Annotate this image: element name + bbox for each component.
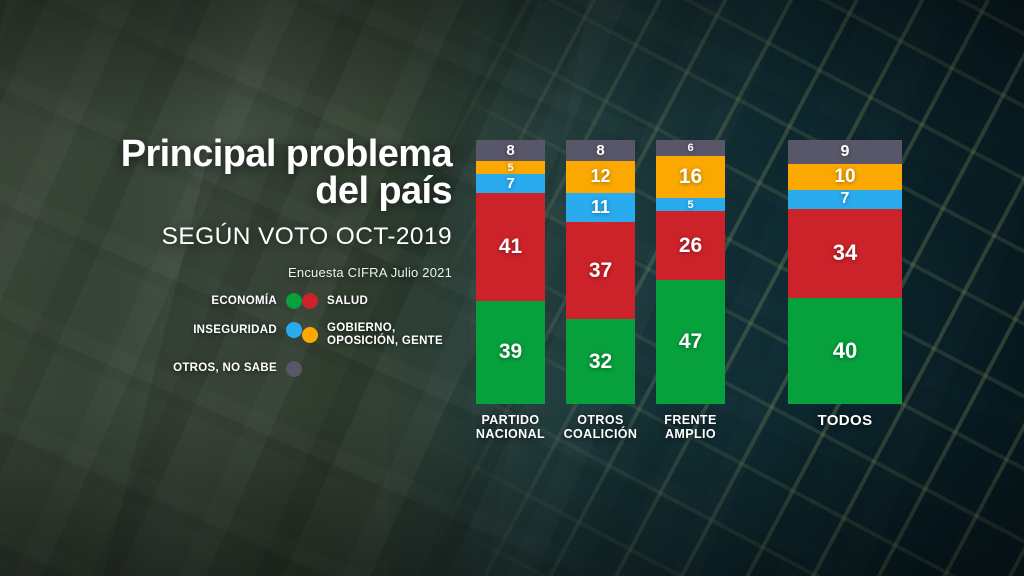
bar-column[interactable]: 91073440TODOS (788, 140, 902, 404)
bar-category-label-line: FRENTE (642, 413, 739, 427)
stacked-bar-chart: 8574139PARTIDONACIONAL812113732OTROSCOAL… (0, 0, 1024, 576)
bar-segment[interactable]: 6 (656, 140, 725, 156)
bar-category-label: TODOS (774, 413, 916, 430)
bar-segment[interactable]: 16 (656, 156, 725, 198)
bar-segment[interactable]: 40 (788, 298, 902, 404)
bar-segment[interactable]: 12 (566, 161, 635, 193)
bar-segment[interactable]: 10 (788, 164, 902, 190)
bar-segment[interactable]: 5 (476, 161, 545, 174)
bar-category-label-line: NACIONAL (462, 427, 559, 441)
bar-segment[interactable]: 39 (476, 301, 545, 404)
bar-segment[interactable]: 32 (566, 319, 635, 403)
bar-segment[interactable]: 8 (566, 140, 635, 161)
bar-segment[interactable]: 5 (656, 198, 725, 211)
bar-category-label-line: TODOS (774, 413, 916, 430)
bar-segment[interactable]: 41 (476, 193, 545, 301)
bar-segment[interactable]: 47 (656, 280, 725, 404)
bar-category-label-line: OTROS (552, 413, 649, 427)
bar-category-label-line: COALICIÓN (552, 427, 649, 441)
bar-segment[interactable]: 34 (788, 209, 902, 299)
bar-segment[interactable]: 7 (788, 190, 902, 208)
bar-segment[interactable]: 37 (566, 222, 635, 320)
bar-segment[interactable]: 7 (476, 174, 545, 192)
bar-segment[interactable]: 9 (788, 140, 902, 164)
bar-segment[interactable]: 11 (566, 193, 635, 222)
bar-column[interactable]: 812113732OTROSCOALICIÓN (566, 140, 635, 404)
stacked-bar: 61652647 (656, 140, 725, 404)
bar-column[interactable]: 61652647FRENTEAMPLIO (656, 140, 725, 404)
stacked-bar: 91073440 (788, 140, 902, 404)
bar-category-label-line: PARTIDO (462, 413, 559, 427)
bar-segment[interactable]: 8 (476, 140, 545, 161)
bar-category-label-line: AMPLIO (642, 427, 739, 441)
stacked-bar: 812113732 (566, 140, 635, 404)
stacked-bar: 8574139 (476, 140, 545, 404)
bar-category-label: FRENTEAMPLIO (642, 413, 739, 441)
bar-segment[interactable]: 26 (656, 211, 725, 280)
bar-column[interactable]: 8574139PARTIDONACIONAL (476, 140, 545, 404)
bar-category-label: OTROSCOALICIÓN (552, 413, 649, 441)
bar-category-label: PARTIDONACIONAL (462, 413, 559, 441)
